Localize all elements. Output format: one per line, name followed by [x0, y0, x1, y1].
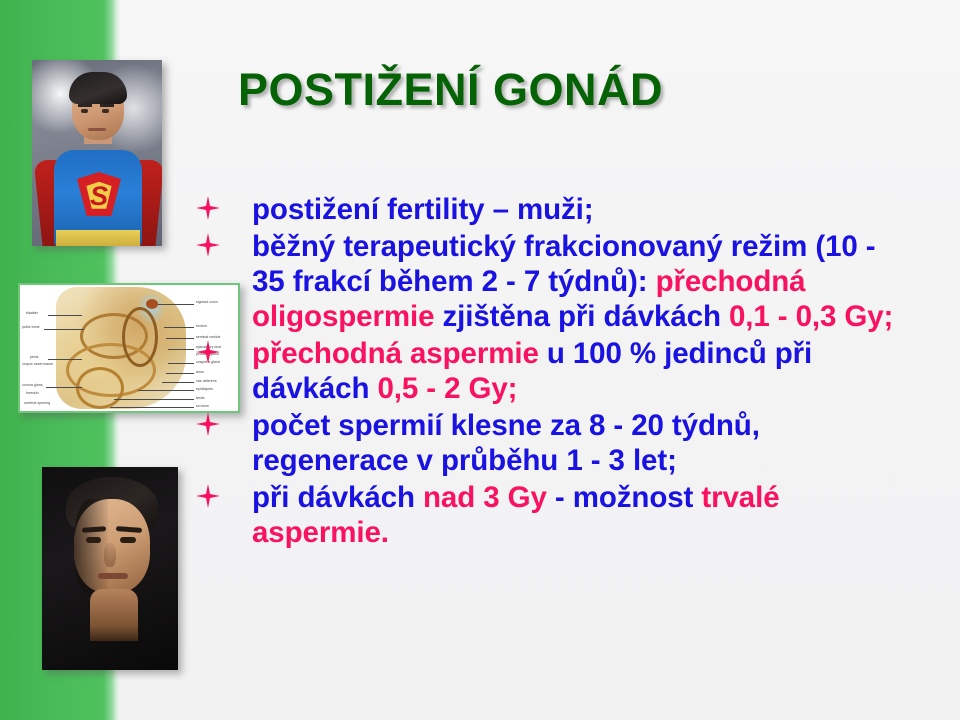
slide-canvas: POSTIŽENÍ GONÁD S bladder pubic bone pe [0, 0, 960, 720]
four-point-star-icon [196, 192, 252, 220]
bullet-text-3: přechodná aspermie u 100 % jedinců při d… [252, 336, 916, 406]
anatomy-leader-right-11 [110, 407, 194, 408]
anatomy-structure-colon [146, 299, 158, 309]
list-item[interactable]: při dávkách nad 3 Gy - možnost trvalé as… [196, 480, 916, 550]
anatomy-label-left-1: bladder [26, 311, 38, 315]
bullet-segment: 0,5 - 2 Gy; [377, 372, 517, 405]
page-title: POSTIŽENÍ GONÁD [238, 64, 663, 116]
anatomy-leader-left-3 [48, 359, 82, 360]
portrait-neck [90, 589, 138, 641]
portrait-eye-right [120, 537, 136, 543]
anatomy-label-left-3: penis [30, 355, 39, 359]
list-item[interactable]: přechodná aspermie u 100 % jedinců při d… [196, 336, 916, 406]
anatomy-leader-left-2 [44, 329, 84, 330]
portrait-nose [104, 543, 116, 567]
superman-photo: S [32, 60, 162, 246]
bullet-segment: zjištěna při dávkách [443, 300, 729, 333]
man-portrait-photo [42, 467, 178, 670]
anatomy-leader-right-3 [166, 338, 194, 339]
bullet-text-4: počet spermií klesne za 8 - 20 týdnů, re… [252, 408, 916, 478]
bullet-segment: při dávkách [252, 481, 423, 514]
bullet-text-1: postižení fertility – muži; [252, 192, 916, 227]
anatomy-leader-right-9 [138, 390, 194, 391]
four-point-star-icon [196, 408, 252, 436]
bullet-segment: nad 3 Gy [423, 481, 547, 514]
anatomy-leader-right-4 [168, 349, 194, 350]
anatomy-leader-right-10 [114, 399, 194, 400]
bullet-segment: počet spermií klesne za 8 - 20 týdnů, re… [252, 409, 760, 477]
list-item[interactable]: běžný terapeutický frakcionovaný režim (… [196, 229, 916, 334]
anatomy-label-left-2: pubic bone [22, 325, 40, 329]
four-point-star-icon [196, 229, 252, 257]
anatomy-label-left-5: corona glans [22, 383, 43, 387]
bullet-segment: - možnost [547, 481, 702, 514]
anatomy-leader-right-7 [166, 373, 194, 374]
four-point-star-icon [196, 480, 252, 508]
superman-hair [69, 72, 127, 104]
anatomy-leader-left-1 [48, 315, 82, 316]
superman-belt [56, 230, 140, 246]
superman-s-emblem: S [84, 179, 114, 213]
superman-eye-left [81, 109, 88, 113]
portrait-mouth [98, 573, 128, 579]
superman-mouth [88, 128, 106, 131]
bullet-text-2: běžný terapeutický frakcionovaný režim (… [252, 229, 916, 334]
superman-eyebrow-left [78, 104, 92, 107]
bullet-segment: 0,1 - 0,3 Gy; [729, 300, 893, 333]
bullet-text-5: při dávkách nad 3 Gy - možnost trvalé as… [252, 480, 916, 550]
anatomy-leader-right-6 [168, 363, 194, 364]
bullet-list: postižení fertility – muži; běžný terape… [196, 192, 916, 552]
bullet-segment: přechodná aspermie [252, 337, 547, 370]
anatomy-leader-left-5 [46, 387, 82, 388]
anatomy-structure-testis [76, 367, 124, 409]
superman-eye-right [102, 109, 109, 113]
bullet-segment: postižení fertility – muži; [252, 193, 594, 226]
list-item[interactable]: postižení fertility – muži; [196, 192, 916, 227]
portrait-eye-left [86, 537, 101, 543]
four-point-star-icon [196, 336, 252, 364]
anatomy-leader-right-8 [162, 382, 194, 383]
superman-eyebrow-right [100, 104, 114, 107]
anatomy-label-left-4: corpus cavernosum [22, 362, 53, 366]
anatomy-label-left-6: foreskin [26, 391, 39, 395]
list-item[interactable]: počet spermií klesne za 8 - 20 týdnů, re… [196, 408, 916, 478]
anatomy-label-left-7: urethral opening [24, 401, 50, 405]
anatomy-leader-right-2 [164, 327, 194, 328]
anatomy-structure-rectum [122, 307, 158, 367]
anatomy-leader-right-1 [158, 304, 194, 305]
